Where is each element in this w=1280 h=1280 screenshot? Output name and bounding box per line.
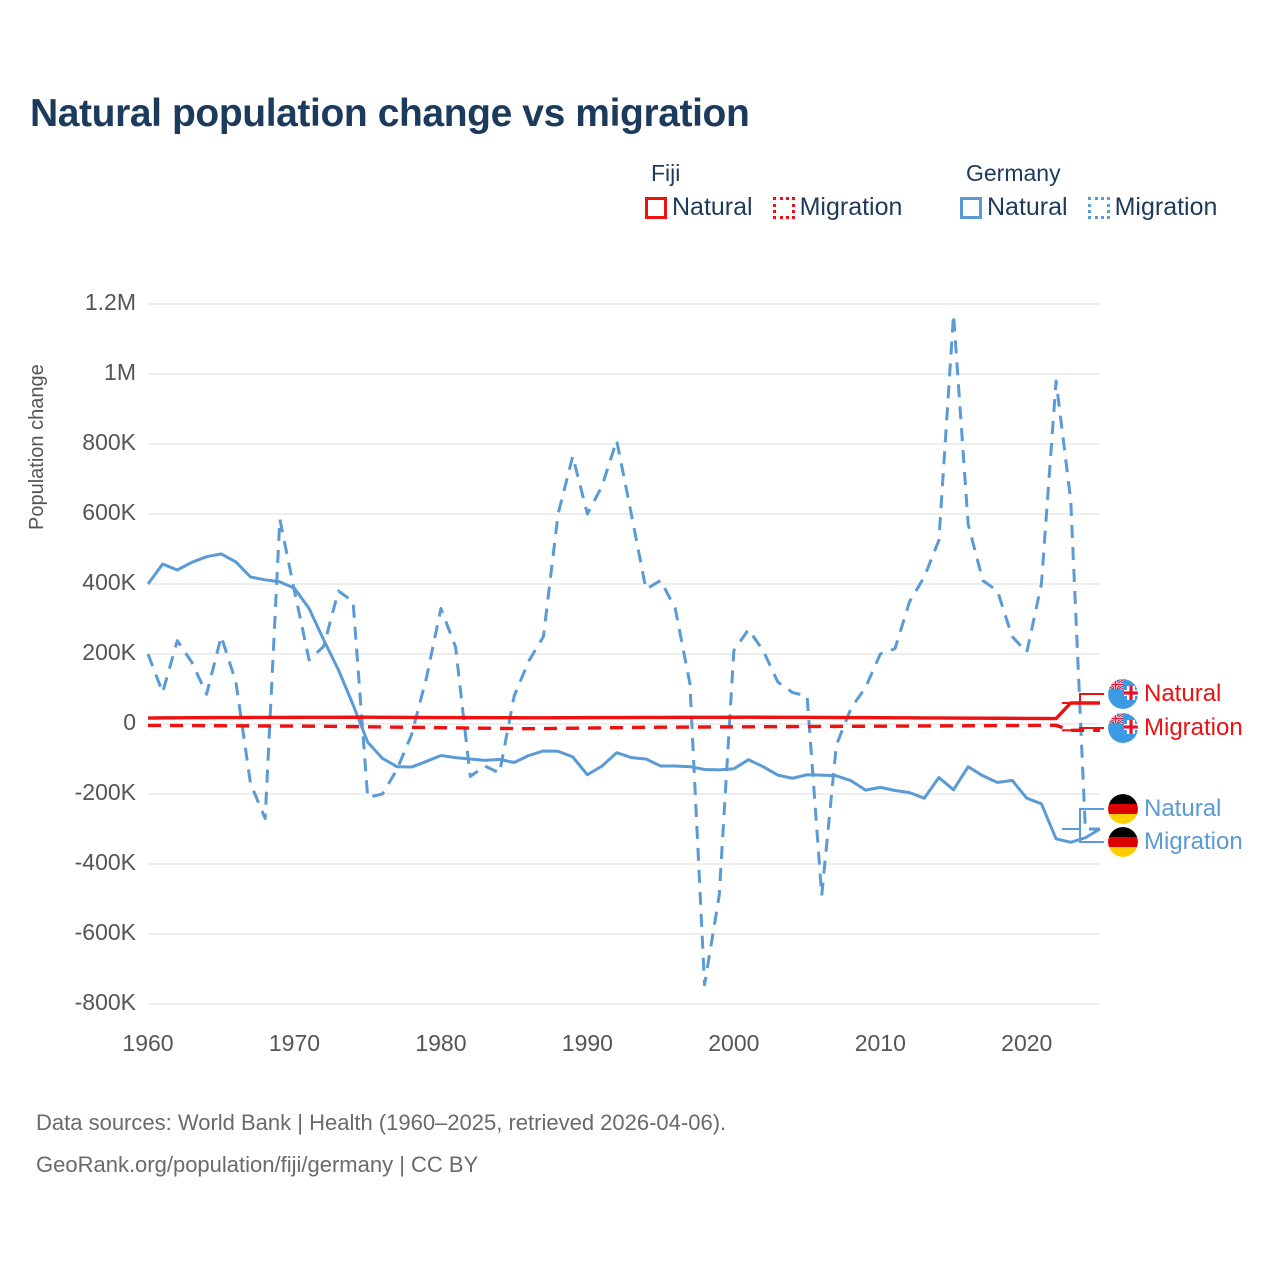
y-tick-label: 400K [26,569,136,596]
series-end-label-fiji-migration[interactable]: Migration [1108,713,1243,743]
y-tick-label: 1.2M [26,289,136,316]
footer-data-sources: Data sources: World Bank | Health (1960–… [36,1110,726,1136]
germany-flag-icon [1108,794,1138,824]
germany-flag-icon [1108,827,1138,857]
x-tick-label: 1960 [98,1030,198,1057]
x-tick-label: 1970 [244,1030,344,1057]
y-tick-label: 200K [26,639,136,666]
x-tick-label: 2000 [684,1030,784,1057]
series-end-label-text: Natural [1144,680,1221,708]
series-end-label-fiji-natural[interactable]: Natural [1108,679,1221,709]
footer-attribution: GeoRank.org/population/fiji/germany | CC… [36,1152,478,1178]
x-tick-label: 1990 [537,1030,637,1057]
fiji-flag-icon [1108,679,1138,709]
series-end-label-text: Migration [1144,828,1243,856]
x-tick-label: 2020 [977,1030,1077,1057]
series-leader-line [1062,809,1104,829]
series-line-fiji-migration [148,725,1100,730]
y-tick-label: -800K [26,989,136,1016]
y-tick-label: 600K [26,499,136,526]
fiji-flag-icon [1108,713,1138,743]
y-tick-label: -600K [26,919,136,946]
series-end-label-germany-natural[interactable]: Natural [1108,794,1221,824]
y-tick-label: -200K [26,779,136,806]
series-line-germany-migration [148,315,1100,985]
y-tick-label: 1M [26,359,136,386]
chart-plot-area: Population change 1.2M1M800K600K400K200K… [0,0,1280,1280]
series-line-germany-natural [148,554,1100,842]
series-line-fiji-natural [148,703,1100,719]
series-end-label-text: Migration [1144,714,1243,742]
series-end-label-germany-migration[interactable]: Migration [1108,827,1243,857]
x-tick-label: 1980 [391,1030,491,1057]
grid-lines [148,304,1100,1004]
x-tick-label: 2010 [830,1030,930,1057]
chart-svg [0,0,1280,1280]
y-tick-label: 800K [26,429,136,456]
series-end-label-text: Natural [1144,795,1221,823]
y-tick-label: -400K [26,849,136,876]
y-tick-label: 0 [26,709,136,736]
